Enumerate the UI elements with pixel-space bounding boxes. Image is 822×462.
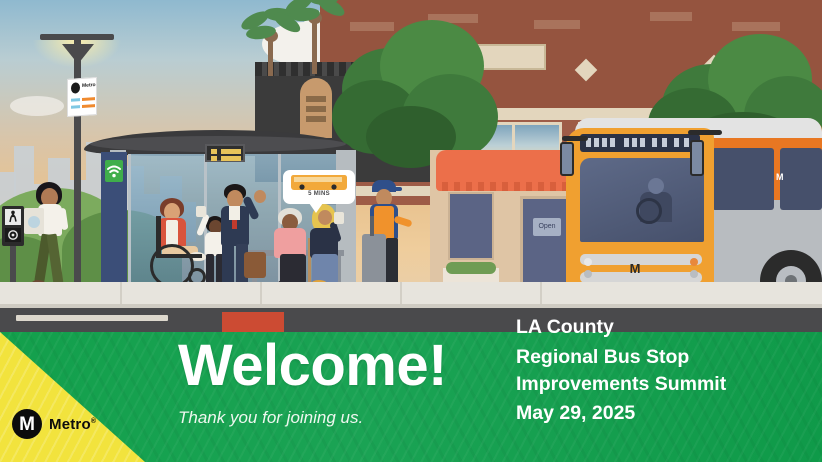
storefront-window xyxy=(448,192,494,260)
walk-signal-icon xyxy=(5,209,21,225)
banner-graphic: Open xyxy=(0,0,822,462)
bus-glyph-icon xyxy=(291,175,347,190)
archway xyxy=(300,78,332,138)
mirror-arm xyxy=(688,130,722,135)
luggage-handle xyxy=(370,216,374,236)
held-cup xyxy=(196,206,206,217)
pedestrian-call-button[interactable] xyxy=(5,228,21,242)
metro-logo-mark: M xyxy=(12,409,42,439)
dress-shirt xyxy=(229,206,240,220)
event-line-2: Regional Bus Stop xyxy=(516,348,689,368)
metro-wordmark: Metro® xyxy=(49,416,96,433)
planter-greenery xyxy=(446,262,496,274)
steering-wheel xyxy=(636,198,662,224)
cap-brim xyxy=(392,187,402,191)
metro-logo-letter: M xyxy=(19,415,35,434)
held-cup xyxy=(334,212,344,224)
metro-trademark: ® xyxy=(91,418,96,425)
wifi-icon xyxy=(105,160,123,182)
mirror-arm xyxy=(562,136,588,141)
red-street-sign xyxy=(222,312,284,332)
bus-side-logo: M xyxy=(776,172,784,182)
welcome-heading: Welcome! xyxy=(178,337,447,395)
tote-bag xyxy=(24,208,44,234)
bus-stop-illustration: Open xyxy=(0,0,822,332)
bus-front-logo: M xyxy=(625,258,645,278)
arrival-display-board xyxy=(205,144,245,162)
event-date: May 29, 2025 xyxy=(516,404,635,424)
event-line-3: Improvements Summit xyxy=(516,375,726,395)
briefcase xyxy=(244,252,266,278)
arrival-time-text: 5 MINS xyxy=(283,191,355,197)
headlight xyxy=(584,270,592,278)
metro-stop-sign: Metro xyxy=(67,77,97,117)
stop-sign-wordmark: Metro xyxy=(82,82,96,89)
bus-driver-head xyxy=(648,178,664,194)
welcome-subheading: Thank you for joining us. xyxy=(178,408,363,428)
headlight xyxy=(584,258,592,266)
event-line-1: LA County xyxy=(516,318,614,338)
bus-window xyxy=(712,148,774,210)
rolling-luggage xyxy=(362,234,386,286)
bus-mirror xyxy=(690,140,704,176)
metro-logo: M Metro® xyxy=(12,409,96,439)
turn-signal xyxy=(690,270,698,278)
bus-destination-sign xyxy=(580,134,700,152)
bus-window xyxy=(780,148,822,210)
street-marking xyxy=(16,315,168,321)
turn-signal xyxy=(690,258,698,266)
open-sign: Open xyxy=(533,218,561,236)
bus-mirror xyxy=(560,142,574,176)
bus-front-logo-letter: M xyxy=(630,261,641,276)
